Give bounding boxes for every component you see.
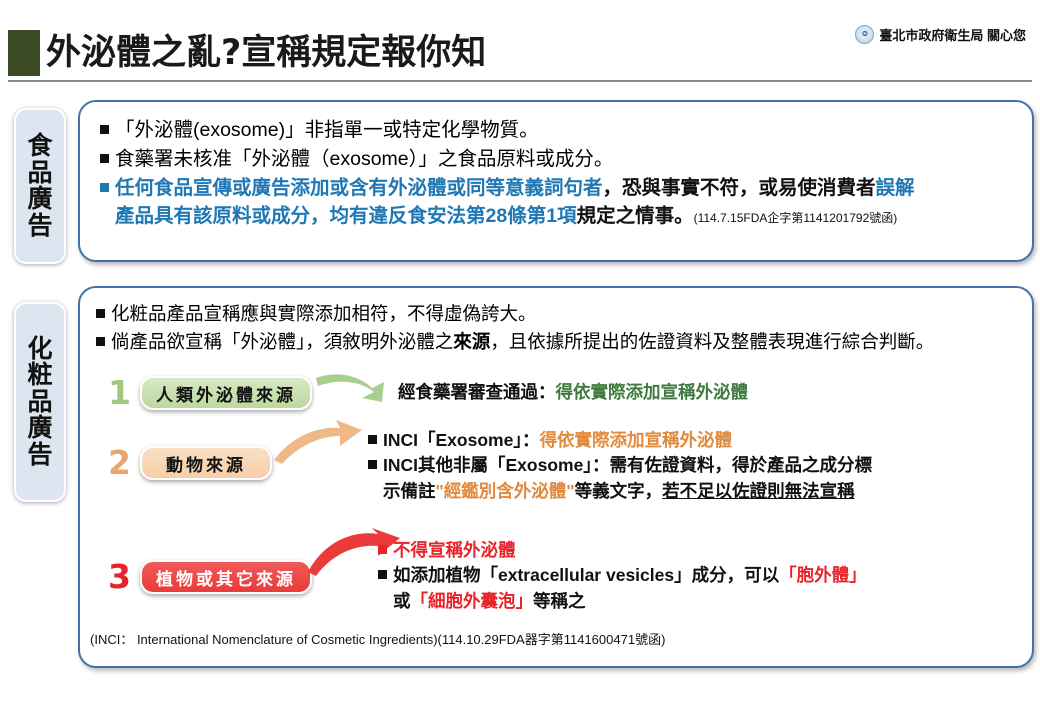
square-bullet-icon: [96, 337, 105, 346]
food-highlight-line-1: 任何食品宣傳或廣告添加或含有外泌體或同等意義詞句者，恐與事實不符，或易使消費者誤…: [100, 174, 915, 202]
cosmetic-advertising-box: 化粧品產品宣稱應與實際添加相符，不得虛偽誇大。 倘產品欲宣稱「外泌體」，須敘明外…: [78, 286, 1034, 668]
square-bullet-icon: [368, 435, 377, 444]
cosmetic-footnote: (INCI： International Nomenclature of Cos…: [90, 629, 665, 648]
side-label-food-char-0: 食: [27, 133, 52, 160]
side-label-food-ad: 食 品 廣 告: [14, 108, 66, 264]
side-label-cos-char-4: 告: [27, 442, 52, 469]
food-citation: (114.7.15FDA企字第1141201792號函): [694, 211, 898, 225]
header-divider: [8, 80, 1032, 82]
side-label-food-char-1: 品: [27, 160, 52, 187]
green-curved-arrow-icon: [312, 368, 396, 408]
row-number-1: 1: [108, 376, 131, 409]
row-2-line-2: INCI其他非屬「Exosome」：需有佐證資料，得於產品之成分標: [368, 453, 872, 478]
side-label-cos-char-0: 化: [27, 336, 52, 363]
square-bullet-icon: [96, 309, 105, 318]
source-pill-animal[interactable]: 動物來源: [140, 446, 272, 480]
side-label-cos-char-1: 粧: [27, 362, 52, 389]
title-accent-block: [8, 30, 40, 76]
square-bullet-icon: [100, 125, 109, 134]
food-bullet-2: 食藥署未核准「外泌體（exosome）」之食品原料或成分。: [100, 145, 915, 173]
row-3-line-2: 如添加植物「extracellular vesicles」成分，可以「胞外體」: [378, 563, 867, 588]
source-pill-human[interactable]: 人類外泌體來源: [140, 376, 312, 410]
square-bullet-icon: [100, 183, 109, 192]
cosmetic-bullet-1: 化粧品產品宣稱應與實際添加相符，不得虛偽誇大。: [96, 300, 934, 328]
row-1-line-1: 經食藥署審查通過：得依實際添加宣稱外泌體: [398, 380, 748, 405]
side-label-food-char-3: 告: [27, 213, 52, 240]
row-2-text: INCI「Exosome」：得依實際添加宣稱外泌體 INCI其他非屬「Exoso…: [368, 428, 872, 504]
page-title: 外泌體之亂?宣稱規定報你知: [46, 24, 486, 75]
row-2-line-1: INCI「Exosome」：得依實際添加宣稱外泌體: [368, 428, 872, 453]
cosmetic-bullet-2: 倘產品欲宣稱「外泌體」，須敘明外泌體之來源，且依據所提出的佐證資料及整體表現進行…: [96, 328, 934, 356]
side-label-cos-char-2: 品: [27, 389, 52, 416]
side-label-cosmetic-ad: 化 粧 品 廣 告: [14, 302, 66, 502]
food-highlight-line-2: 產品具有該原料或成分，均有違反食安法第28條第1項規定之情事。(114.7.15…: [115, 202, 915, 230]
row-3-line-3: 或「細胞外囊泡」等稱之: [393, 589, 867, 614]
cosmetic-bullet-list: 化粧品產品宣稱應與實際添加相符，不得虛偽誇大。 倘產品欲宣稱「外泌體」，須敘明外…: [96, 300, 934, 356]
square-bullet-icon: [100, 154, 109, 163]
row-3-line-1: 不得宣稱外泌體: [378, 538, 867, 563]
square-bullet-icon: [378, 570, 387, 579]
row-2-line-3: 示備註"經鑑別含外泌體"等義文字，若不足以佐證則無法宣稱: [383, 479, 872, 504]
square-bullet-icon: [368, 460, 377, 469]
food-advertising-box: 「外泌體(exosome)」非指單一或特定化學物質。 食藥署未核准「外泌體（ex…: [78, 100, 1034, 262]
side-label-food-char-2: 廣: [27, 186, 52, 213]
row-number-3: 3: [108, 560, 131, 593]
org-logo-label: 臺北市政府衛生局 關心您: [879, 25, 1026, 44]
row-3-text: 不得宣稱外泌體 如添加植物「extracellular vesicles」成分，…: [378, 538, 867, 614]
side-label-cos-char-3: 廣: [27, 415, 52, 442]
page-header: 外泌體之亂?宣稱規定報你知 ❂ 臺北市政府衛生局 關心您: [0, 26, 1040, 80]
taipei-health-dept-seal-icon: ❂: [855, 25, 874, 44]
food-bullet-1: 「外泌體(exosome)」非指單一或特定化學物質。: [100, 116, 915, 144]
row-1-text: 經食藥署審查通過：得依實際添加宣稱外泌體: [398, 380, 748, 405]
org-logo: ❂ 臺北市政府衛生局 關心您: [855, 25, 1026, 44]
source-pill-plant-other[interactable]: 植物或其它來源: [140, 560, 312, 594]
orange-curved-arrow-icon: [270, 420, 366, 464]
row-number-2: 2: [108, 446, 131, 479]
square-bullet-icon: [378, 545, 387, 554]
food-bullet-list: 「外泌體(exosome)」非指單一或特定化學物質。 食藥署未核准「外泌體（ex…: [100, 116, 915, 230]
